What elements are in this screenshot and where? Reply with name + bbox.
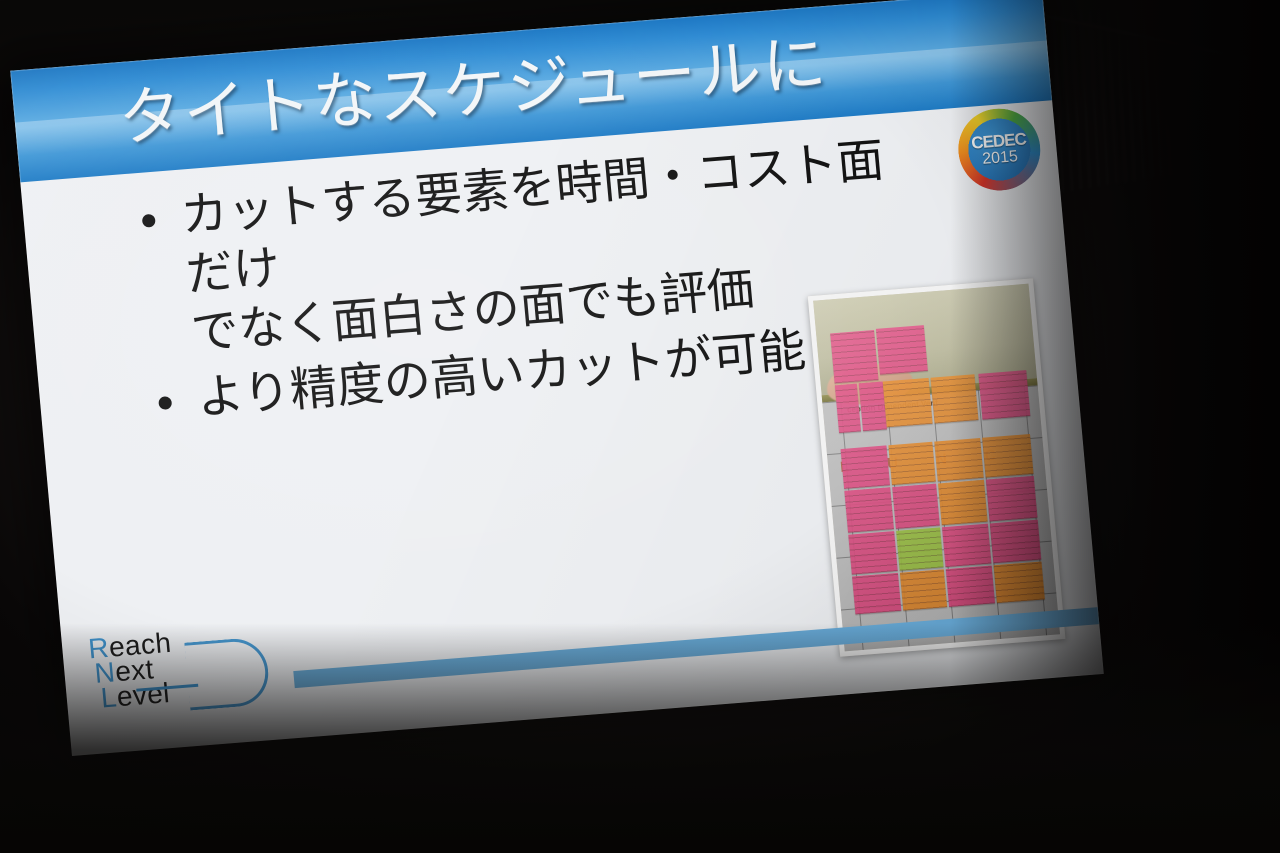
bullet-dot-icon (142, 214, 156, 228)
room-bottom-shadow (0, 623, 1280, 853)
bullet-dot-icon (158, 396, 172, 410)
screenshot-stage: タイトなスケジュールに CEDEC 2015 カットする要素を時間・コスト面だけ… (0, 0, 1280, 853)
